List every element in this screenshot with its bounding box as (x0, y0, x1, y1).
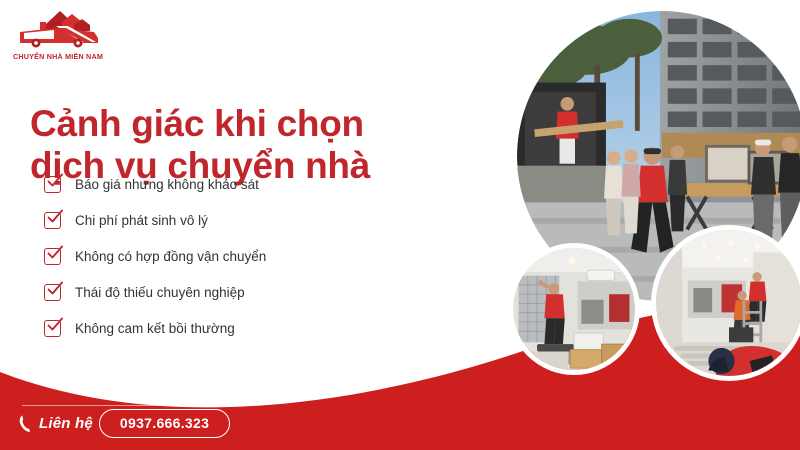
brand-logo: CHUYỂN NHÀ MIỀN NAM (10, 8, 106, 66)
phone-number-pill[interactable]: 0937.666.323 (99, 409, 230, 438)
moving-truck-house-logo-icon (16, 8, 102, 50)
list-item-label: Chi phí phát sinh vô lý (75, 213, 208, 228)
list-item-label: Báo giá nhưng không khảo sát (75, 177, 259, 192)
checkbox-checked-icon (44, 176, 61, 193)
list-item: Chi phí phát sinh vô lý (44, 202, 484, 238)
list-item: Báo giá nhưng không khảo sát (44, 166, 484, 202)
checkbox-checked-icon (44, 284, 61, 301)
contact-divider (22, 405, 212, 406)
worker-ladder-interior-photo (508, 243, 640, 375)
list-item-label: Thái độ thiếu chuyên nghiệp (75, 285, 245, 300)
list-item-label: Không cam kết bồi thường (75, 321, 235, 336)
logo-wordmark: CHUYỂN NHÀ MIỀN NAM (10, 52, 106, 61)
workers-installing-ac-photo (651, 225, 800, 381)
checkbox-checked-icon (44, 320, 61, 337)
list-item-label: Không có hợp đồng vận chuyển (75, 249, 266, 264)
checkbox-checked-icon (44, 212, 61, 229)
promo-banner: CHUYỂN NHÀ MIỀN NAM Cảnh giác khi chọn d… (0, 0, 800, 450)
checkbox-checked-icon (44, 248, 61, 265)
phone-icon (18, 414, 35, 433)
list-item: Không cam kết bồi thường (44, 310, 484, 346)
list-item: Thái độ thiếu chuyên nghiệp (44, 274, 484, 310)
headline-line-1: Cảnh giác khi chọn (30, 103, 490, 145)
warning-checklist: Báo giá nhưng không khảo sát Chi phí phá… (44, 166, 484, 346)
list-item: Không có hợp đồng vận chuyển (44, 238, 484, 274)
phone-number: 0937.666.323 (120, 415, 209, 431)
contact-label: Liên hệ (39, 415, 93, 432)
contact-bar[interactable]: Liên hệ 0937.666.323 (18, 408, 230, 438)
movers-street-apartment-photo (512, 6, 800, 306)
